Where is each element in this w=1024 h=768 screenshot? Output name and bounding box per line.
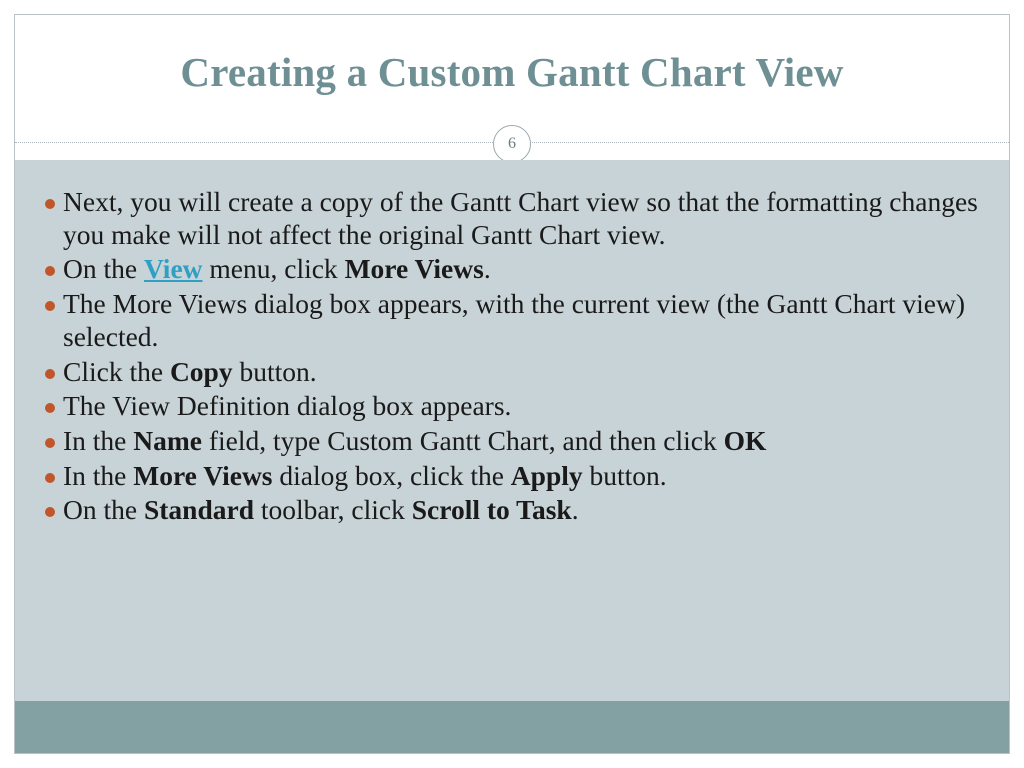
menu-link-view[interactable]: View: [144, 253, 203, 284]
list-item-text: The View Definition dialog box appears.: [63, 390, 995, 423]
plain-text: Next, you will create a copy of the Gant…: [63, 186, 978, 250]
emphasis-text: Standard: [144, 494, 254, 525]
bullet-dot-shape: [45, 369, 55, 379]
plain-text: .: [572, 494, 579, 525]
bullet-dot-shape: [45, 507, 55, 517]
emphasis-text: Apply: [511, 460, 583, 491]
emphasis-text: More Views: [345, 253, 484, 284]
plain-text: Click the: [63, 356, 170, 387]
page-title: Creating a Custom Gantt Chart View: [180, 50, 843, 95]
plain-text: .: [484, 253, 491, 284]
plain-text: toolbar, click: [254, 494, 412, 525]
page-number-label: 6: [508, 135, 516, 153]
plain-text: button.: [233, 356, 317, 387]
emphasis-text: OK: [724, 425, 767, 456]
list-item-text: Next, you will create a copy of the Gant…: [63, 186, 995, 251]
bullet-dot-icon: [37, 460, 63, 483]
bullet-dot-icon: [37, 356, 63, 379]
plain-text: button.: [583, 460, 667, 491]
list-item-text: In the More Views dialog box, click the …: [63, 460, 995, 493]
bullet-dot-shape: [45, 266, 55, 276]
emphasis-text: Scroll to Task: [412, 494, 572, 525]
list-item: The More Views dialog box appears, with …: [37, 288, 995, 353]
list-item: On the View menu, click More Views.: [37, 253, 995, 286]
bullet-dot-icon: [37, 425, 63, 448]
slide-title-area: Creating a Custom Gantt Chart View: [15, 15, 1009, 131]
bullet-dot-shape: [45, 403, 55, 413]
plain-text: In the: [63, 425, 133, 456]
list-item-text: The More Views dialog box appears, with …: [63, 288, 995, 353]
slide-body: Next, you will create a copy of the Gant…: [15, 160, 1009, 753]
plain-text: On the: [63, 494, 144, 525]
list-item-text: Click the Copy button.: [63, 356, 995, 389]
bullet-dot-shape: [45, 473, 55, 483]
bullet-dot-icon: [37, 186, 63, 209]
list-item: The View Definition dialog box appears.: [37, 390, 995, 423]
plain-text: In the: [63, 460, 133, 491]
bullet-dot-icon: [37, 390, 63, 413]
emphasis-text: Copy: [170, 356, 233, 387]
page-number-badge: 6: [493, 125, 531, 163]
bullet-dot-shape: [45, 199, 55, 209]
list-item: In the More Views dialog box, click the …: [37, 460, 995, 493]
plain-text: dialog box, click the: [273, 460, 511, 491]
plain-text: menu, click: [203, 253, 345, 284]
list-item: Click the Copy button.: [37, 356, 995, 389]
list-item: Next, you will create a copy of the Gant…: [37, 186, 995, 251]
emphasis-text: Name: [133, 425, 202, 456]
slide: Creating a Custom Gantt Chart View 6 Nex…: [14, 14, 1010, 754]
bullet-dot-icon: [37, 494, 63, 517]
list-item-text: On the View menu, click More Views.: [63, 253, 995, 286]
bullet-dot-shape: [45, 438, 55, 448]
footer-bar: [15, 701, 1009, 753]
bullet-dot-icon: [37, 288, 63, 311]
plain-text: The View Definition dialog box appears.: [63, 390, 511, 421]
bullet-dot-icon: [37, 253, 63, 276]
bullet-list: Next, you will create a copy of the Gant…: [37, 186, 995, 529]
list-item-text: In the Name field, type Custom Gantt Cha…: [63, 425, 995, 458]
bullet-dot-shape: [45, 301, 55, 311]
plain-text: On the: [63, 253, 144, 284]
plain-text: The More Views dialog box appears, with …: [63, 288, 965, 352]
list-item-text: On the Standard toolbar, click Scroll to…: [63, 494, 995, 527]
emphasis-text: More Views: [133, 460, 272, 491]
list-item: On the Standard toolbar, click Scroll to…: [37, 494, 995, 527]
plain-text: field, type Custom Gantt Chart, and then…: [202, 425, 724, 456]
list-item: In the Name field, type Custom Gantt Cha…: [37, 425, 995, 458]
